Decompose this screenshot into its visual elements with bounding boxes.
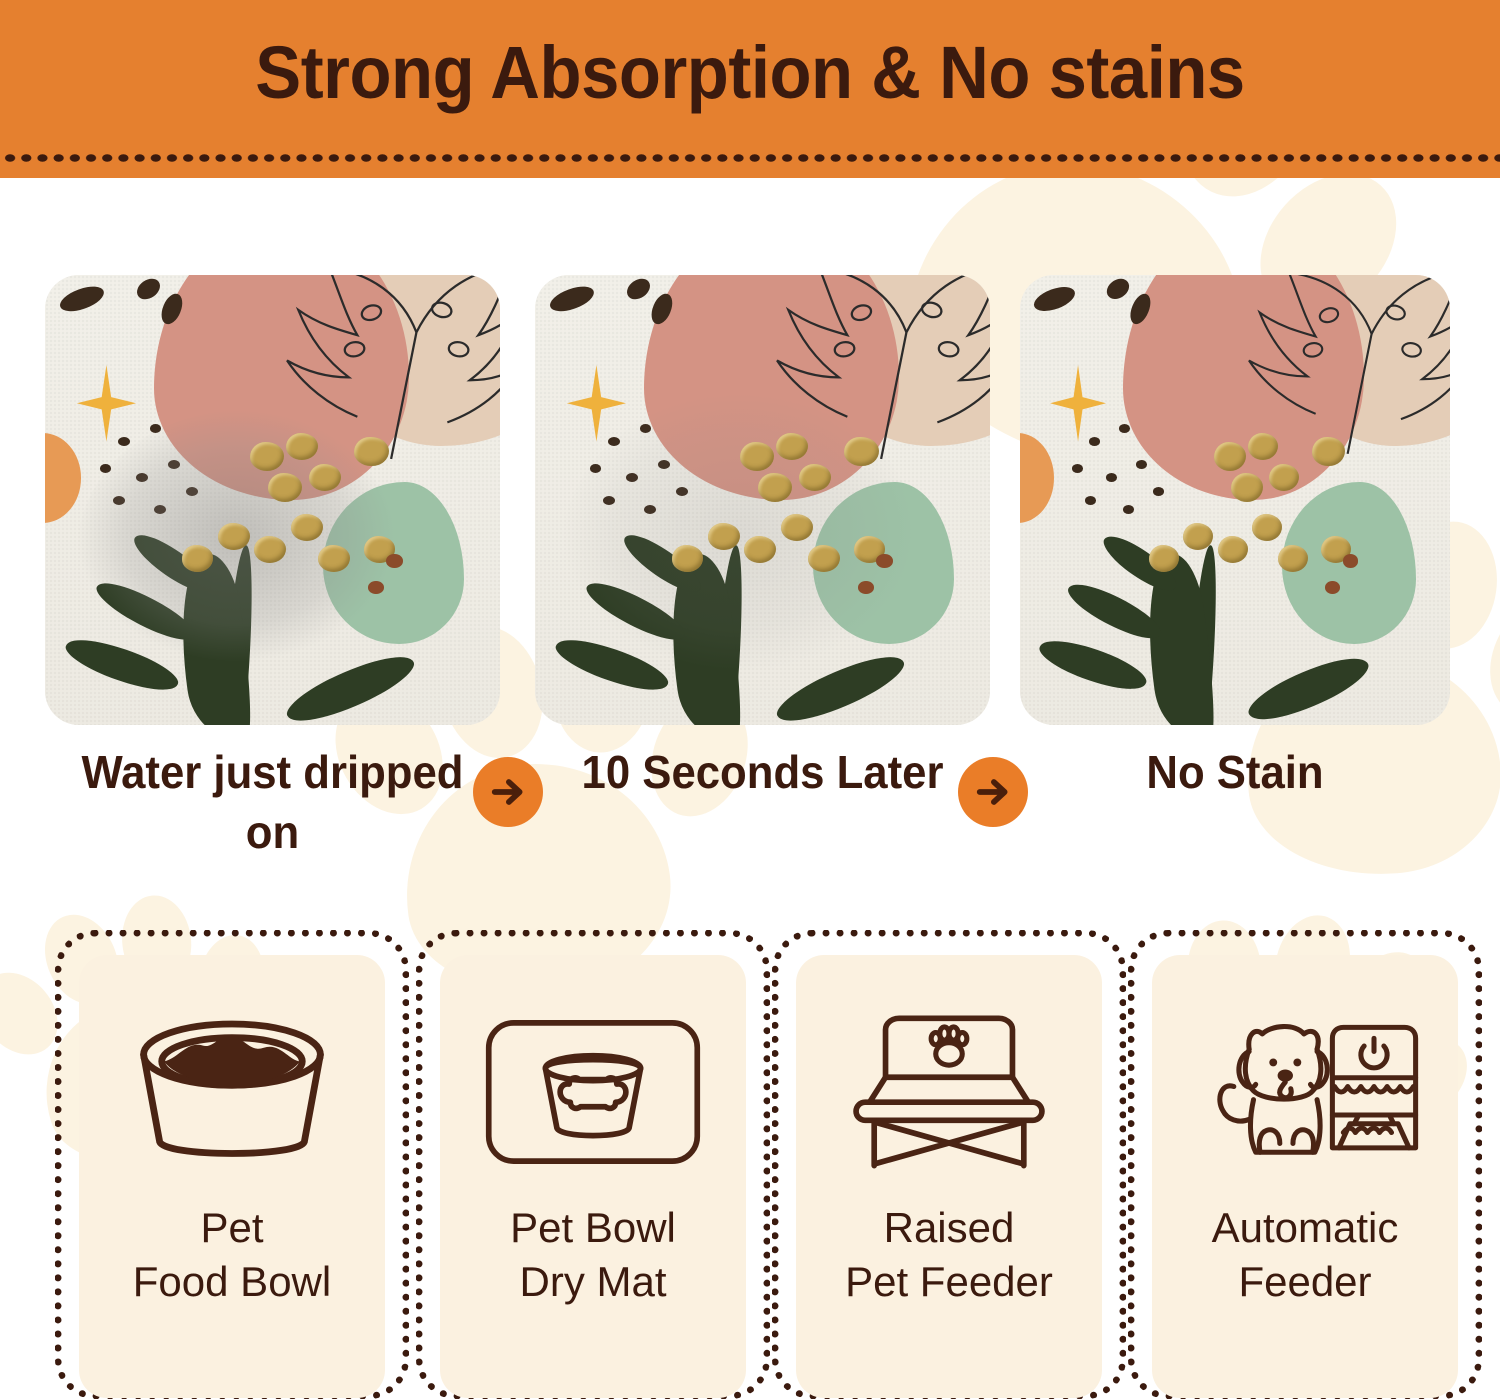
comparison-photo-wet <box>45 275 500 725</box>
usage-card-label: Pet Bowl Dry Mat <box>510 1201 676 1309</box>
comparison-caption: 10 Seconds Later <box>546 742 978 802</box>
automatic-feeder-icon <box>1190 1007 1420 1177</box>
star-icon <box>1050 365 1106 442</box>
comparison-caption: No Stain <box>1031 742 1440 802</box>
absorption-comparison-strip <box>0 275 1500 735</box>
comparison-photo-drying <box>535 275 990 725</box>
header-banner: Strong Absorption & No stains <box>0 0 1500 178</box>
usage-card-label: Automatic Feeder <box>1212 1201 1399 1309</box>
pet-bowl-dry-mat-icon <box>478 1007 708 1177</box>
star-icon <box>77 365 136 442</box>
raised-pet-feeder-icon <box>834 1007 1064 1177</box>
usage-card-label: Raised Pet Feeder <box>845 1201 1053 1309</box>
usage-card-pet-bowl-dry-mat[interactable]: Pet Bowl Dry Mat <box>416 930 770 1399</box>
usage-card-label: Pet Food Bowl <box>133 1201 331 1309</box>
dotted-divider <box>0 152 1500 164</box>
pet-food-bowl-icon <box>117 1007 347 1177</box>
usage-scenarios: Pet Food Bowl Pet Bowl Dry Mat <box>0 930 1500 1393</box>
page-title: Strong Absorption & No stains <box>53 30 1448 115</box>
comparison-caption: Water just dripped on <box>56 742 488 862</box>
usage-card-raised-pet-feeder[interactable]: Raised Pet Feeder <box>772 930 1126 1399</box>
star-icon <box>567 365 626 442</box>
water-stain-fading <box>562 392 917 671</box>
comparison-captions: Water just dripped on 10 Seconds Later N… <box>0 742 1500 892</box>
usage-card-automatic-feeder[interactable]: Automatic Feeder <box>1128 930 1482 1399</box>
comparison-photo-dry <box>1020 275 1450 725</box>
usage-card-pet-food-bowl[interactable]: Pet Food Bowl <box>55 930 409 1399</box>
